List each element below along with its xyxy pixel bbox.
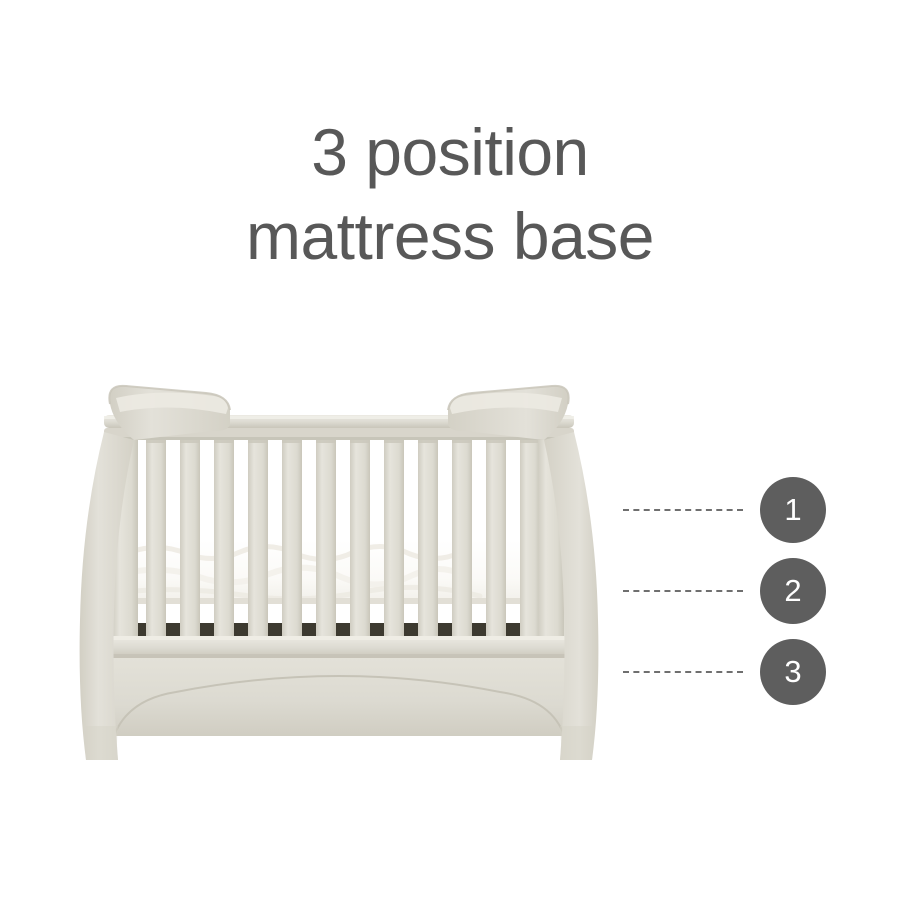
infographic-canvas: 3 position mattress base [0, 0, 900, 900]
position-badge-2[interactable]: 2 [760, 558, 826, 624]
callout-connector-line [623, 590, 743, 592]
cot-bed-illustration [0, 0, 900, 900]
position-badge-1[interactable]: 1 [760, 477, 826, 543]
position-badge-3[interactable]: 3 [760, 639, 826, 705]
cot-base-rail [96, 636, 582, 658]
callout-connector-line [623, 671, 743, 673]
callout-connector-line [623, 509, 743, 511]
